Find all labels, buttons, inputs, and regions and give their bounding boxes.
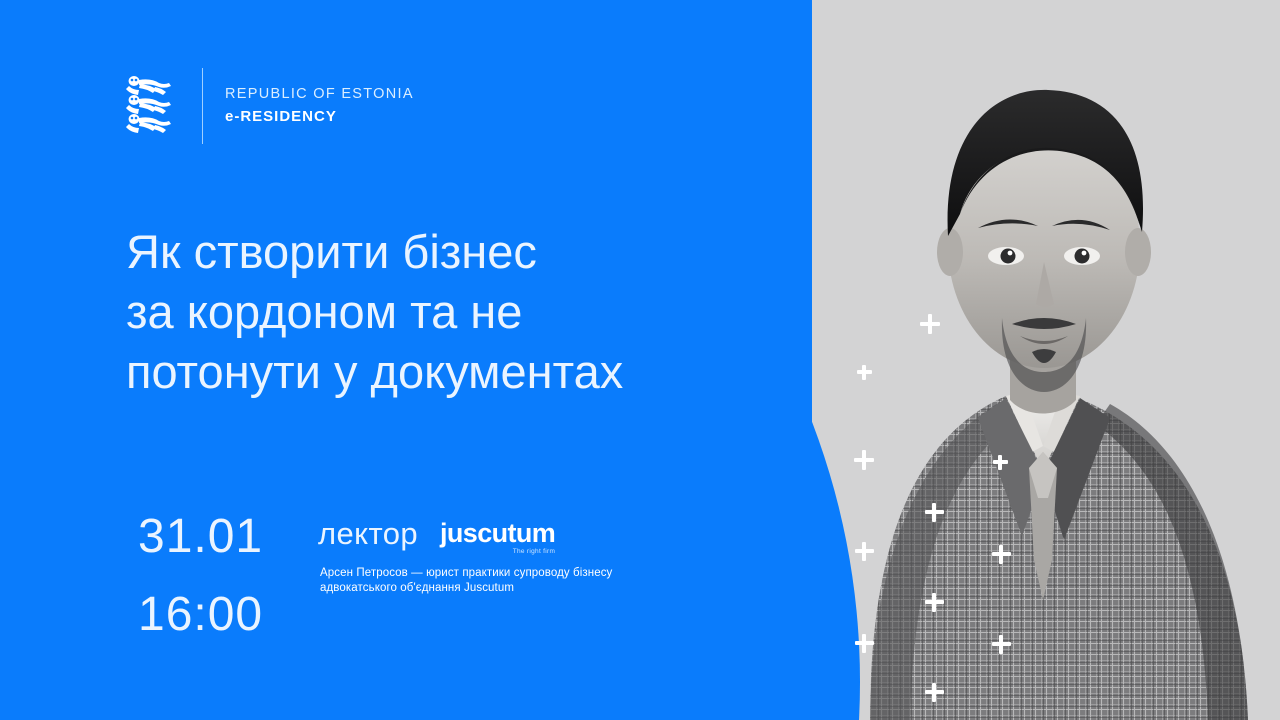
e-residency-brand-lockup: REPUBLIC OF ESTONIA e-RESIDENCY: [122, 68, 414, 144]
speaker-bio: Арсен Петросов — юрист практики супровод…: [320, 566, 612, 596]
speaker-photo-panel: [810, 0, 1280, 720]
brand-divider: [202, 68, 203, 144]
poster-canvas: REPUBLIC OF ESTONIA e-RESIDENCY Як створ…: [0, 0, 1280, 720]
brand-text-block: REPUBLIC OF ESTONIA e-RESIDENCY: [225, 85, 414, 127]
juscutum-tagline: The right firm: [440, 548, 555, 555]
brand-republic-of-estonia: REPUBLIC OF ESTONIA: [225, 85, 414, 105]
brand-e-residency: e-RESIDENCY: [225, 107, 414, 127]
estonia-coat-of-arms-icon: [122, 75, 174, 137]
lecturer-row: лектор juscutum The right firm: [318, 516, 555, 552]
event-date: 31.01: [138, 498, 263, 576]
speaker-portrait-image: [810, 0, 1280, 720]
lecturer-label: лектор: [318, 516, 418, 552]
juscutum-logo: juscutum The right firm: [440, 520, 555, 555]
event-time: 16:00: [138, 576, 263, 654]
page-title: Як створити бізнес за кордоном та не пот…: [126, 222, 623, 402]
event-datetime-block: 31.01 16:00: [138, 498, 263, 654]
juscutum-wordmark: juscutum: [440, 520, 555, 547]
